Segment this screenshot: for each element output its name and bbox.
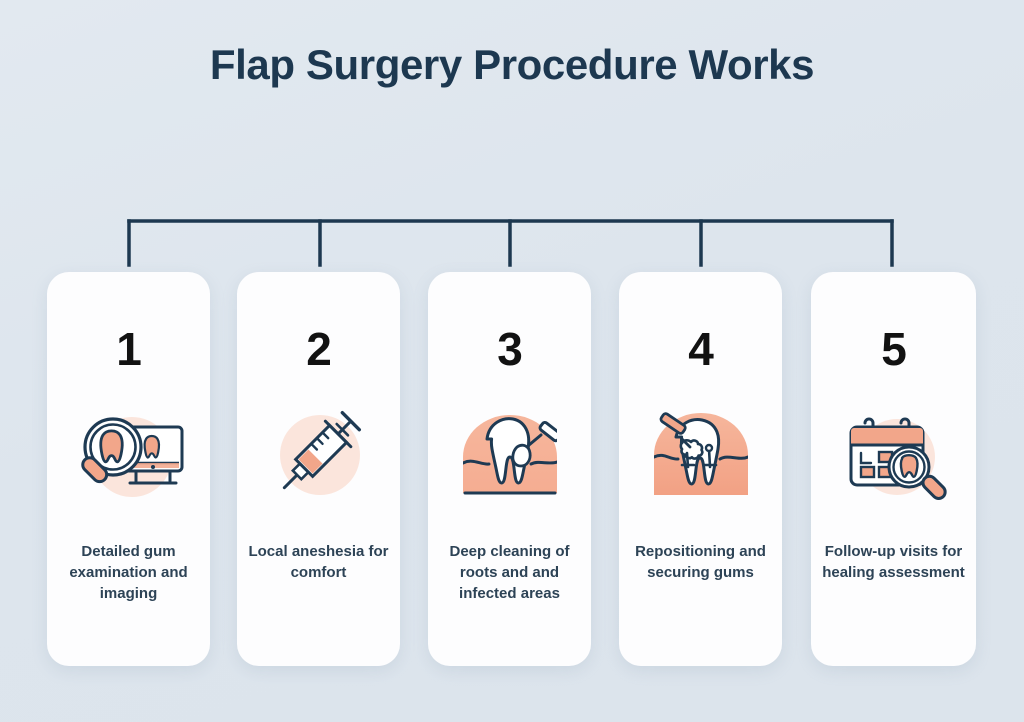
step-caption: Detailed gum examination and imaging <box>54 541 204 604</box>
step-number: 1 <box>116 324 141 374</box>
magnifier-tooth-monitor-icon <box>74 402 184 507</box>
step-card-2[interactable]: 2 <box>237 272 400 666</box>
step-number: 5 <box>881 324 906 374</box>
tooth-scaler-cleaning-icon <box>455 402 565 507</box>
step-caption: Follow-up visits for healing assessment <box>818 541 970 583</box>
step-number: 2 <box>306 324 331 374</box>
bracket-connector <box>127 219 894 267</box>
step-card-5[interactable]: 5 <box>811 272 976 666</box>
tooth-suture-gum-icon <box>646 402 756 507</box>
steps-row: 1 <box>47 272 976 666</box>
infographic-poster: Flap Surgery Procedure Works 1 <box>0 0 1024 722</box>
step-card-3[interactable]: 3 <box>428 272 591 666</box>
step-number: 4 <box>688 324 713 374</box>
page-title: Flap Surgery Procedure Works <box>0 36 1024 94</box>
calendar-magnifier-tooth-icon <box>839 402 949 507</box>
step-caption: Local aneshesia for comfort <box>244 541 394 583</box>
step-card-4[interactable]: 4 <box>619 272 782 666</box>
step-card-1[interactable]: 1 <box>47 272 210 666</box>
step-caption: Repositioning and securing gums <box>626 541 776 583</box>
step-caption: Deep cleaning of roots and and infected … <box>435 541 585 604</box>
step-number: 3 <box>497 324 522 374</box>
syringe-icon <box>264 402 374 507</box>
